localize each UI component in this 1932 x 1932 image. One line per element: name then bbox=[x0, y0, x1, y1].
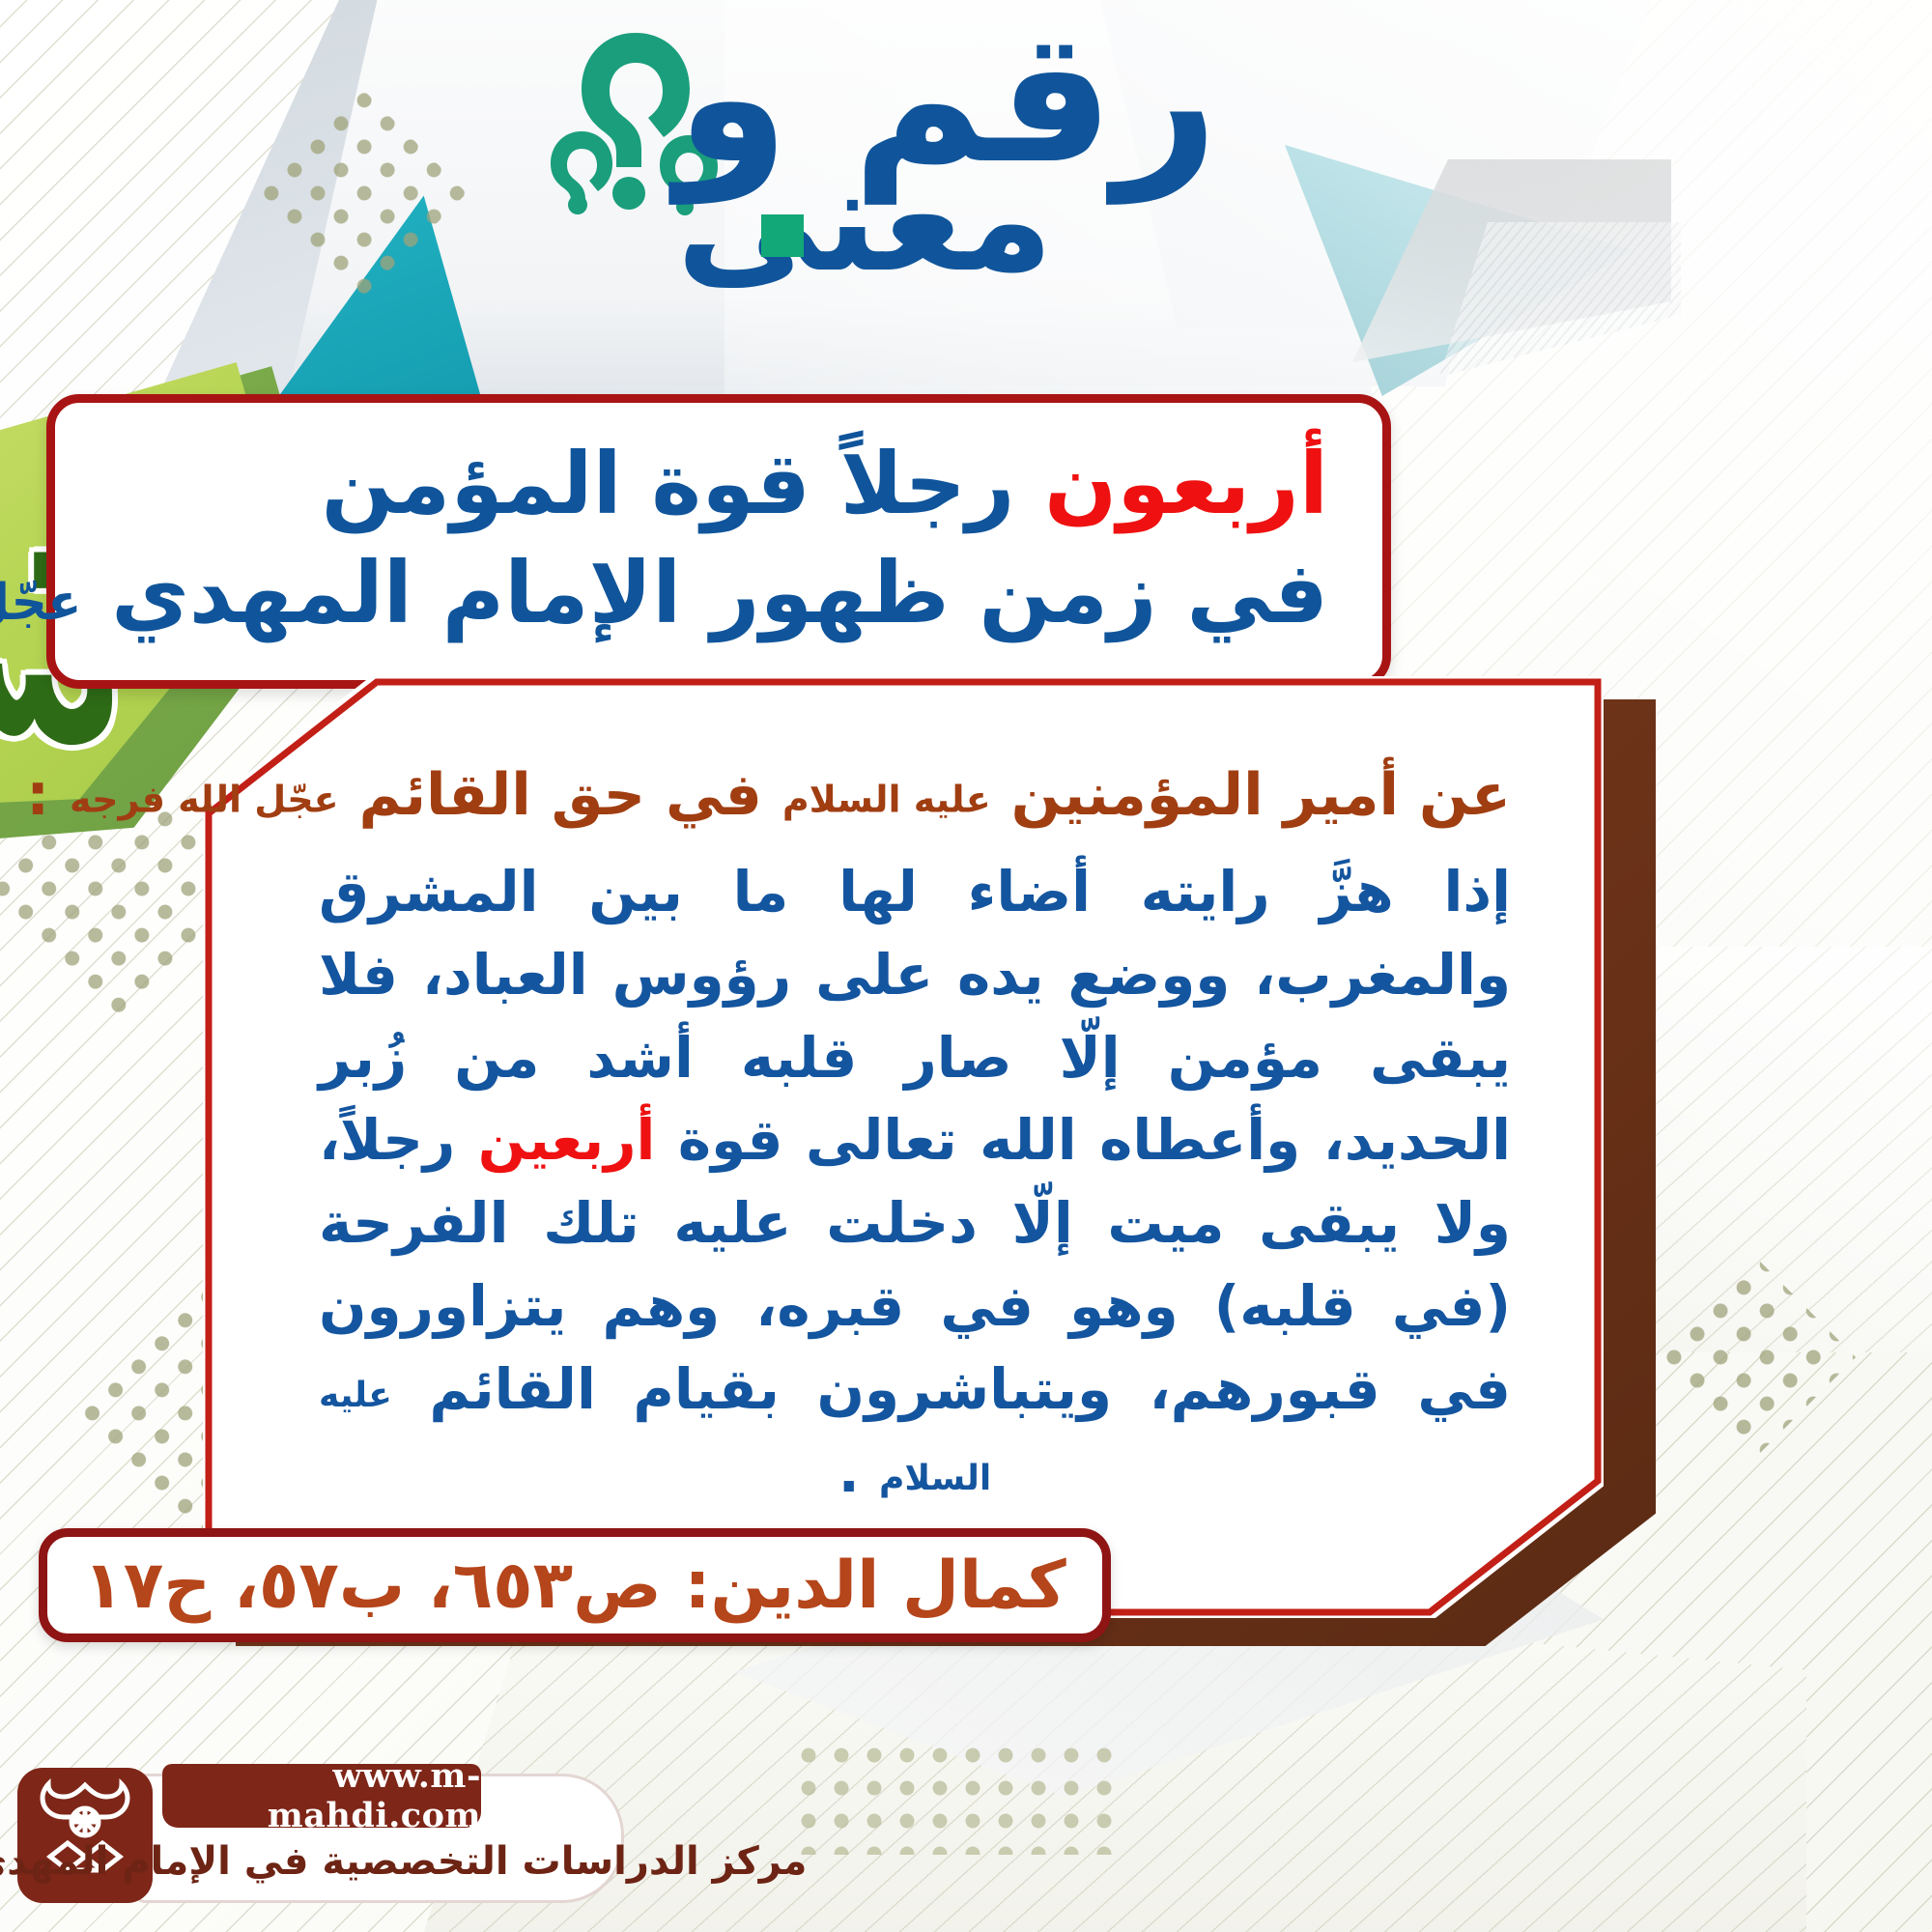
poster-canvas: رقم و معنى ٤٠ أربعون رجلاً قوة المؤمن في… bbox=[0, 0, 1932, 1932]
hadith-content: عن أمير المؤمنين عليه السلام في حق القائ… bbox=[203, 676, 1604, 1618]
narration-header-start: عن أمير المؤمنين bbox=[991, 761, 1511, 829]
hadith-text: إذا هزَّ رايته أضاء لها ما بين المشرق وا… bbox=[319, 851, 1511, 1515]
narration-header-mid: في حق القائم bbox=[339, 761, 782, 829]
decorative-dots bbox=[792, 1739, 1121, 1855]
title-line-one: أربعون رجلاً قوة المؤمن bbox=[322, 430, 1328, 539]
honorific-qaim: عجّل الله فرجه bbox=[70, 779, 339, 821]
logo-accent-square bbox=[761, 214, 804, 257]
honorific-ali: عليه السلام bbox=[782, 779, 991, 821]
title-line-one-rest: رجلاً قوة المؤمن bbox=[322, 434, 1045, 533]
website-url[interactable]: www.m-mahdi.com bbox=[162, 1756, 481, 1835]
title-highlight-number: أربعون bbox=[1044, 434, 1328, 533]
logo-wordmark: رقم و معنى bbox=[676, 8, 1468, 307]
center-name: مركز الدراسات التخصصية في الإمام المهدي bbox=[153, 1832, 626, 1891]
narration-header-colon: : bbox=[26, 761, 70, 829]
title-line-two-text: في زمن ظهور الإمام المهدي bbox=[82, 543, 1328, 642]
brand-logo: رقم و معنى bbox=[502, 8, 1468, 307]
hadith-highlight-number: أربعين bbox=[478, 1107, 656, 1173]
footer: www.m-mahdi.com مركز الدراسات التخصصية ف… bbox=[17, 1764, 636, 1909]
website-url-tab[interactable]: www.m-mahdi.com bbox=[162, 1764, 481, 1828]
source-citation-text: كمال الدين: ص٦٥٣، ب٥٧، ح١٧ bbox=[83, 1548, 1065, 1624]
title-card: أربعون رجلاً قوة المؤمن في زمن ظهور الإم… bbox=[46, 394, 1391, 689]
hadith-text-end: . bbox=[838, 1439, 879, 1505]
title-line-two: في زمن ظهور الإمام المهدي عجّل الله تعال… bbox=[0, 539, 1328, 648]
honorific-mahdi: عجّل الله تعالى فرجه bbox=[0, 573, 82, 631]
hadith-card-wrapper: عن أمير المؤمنين عليه السلام في حق القائ… bbox=[203, 676, 1652, 1642]
source-citation-bar: كمال الدين: ص٦٥٣، ب٥٧، ح١٧ bbox=[39, 1528, 1111, 1642]
narration-header: عن أمير المؤمنين عليه السلام في حق القائ… bbox=[319, 759, 1511, 832]
